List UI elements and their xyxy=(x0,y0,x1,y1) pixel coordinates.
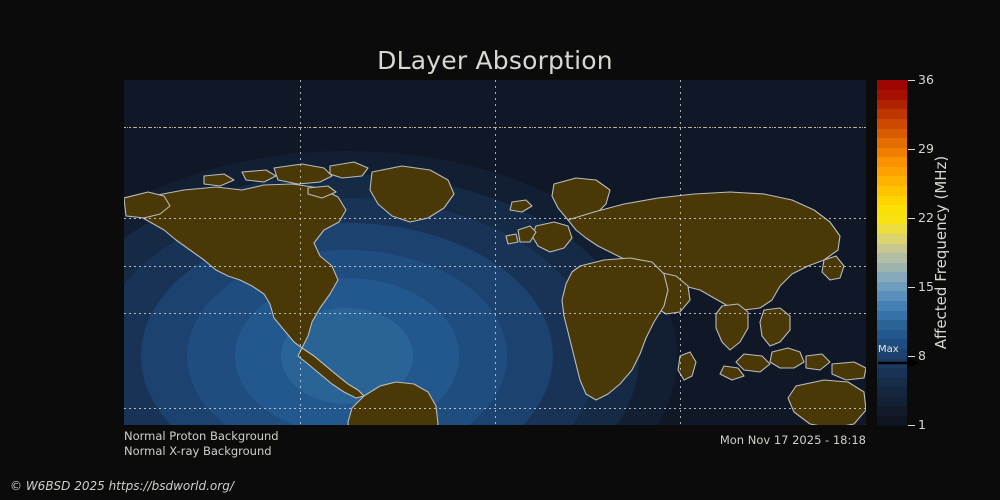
world-map-svg xyxy=(124,80,866,425)
colorbar-band xyxy=(877,281,907,291)
colorbar-band xyxy=(877,329,907,339)
colorbar-tick xyxy=(908,425,915,426)
figure-canvas: DLayer Absorption xyxy=(0,0,1000,500)
colorbar-band xyxy=(877,157,907,167)
colorbar-band xyxy=(877,415,907,425)
colorbar-tick-label: 8 xyxy=(918,350,926,363)
colorbar-band xyxy=(877,291,907,301)
status-proton-background: Normal Proton Background xyxy=(124,429,279,444)
page-title: DLayer Absorption xyxy=(0,46,990,75)
world-map-panel[interactable] xyxy=(124,80,866,425)
colorbar-band xyxy=(877,272,907,282)
colorbar-band xyxy=(877,195,907,205)
colorbar-band xyxy=(877,214,907,224)
colorbar-band xyxy=(877,348,907,358)
colorbar-band xyxy=(877,118,907,128)
colorbar-tick xyxy=(908,356,915,357)
colorbar-band xyxy=(877,300,907,310)
colorbar-band xyxy=(877,138,907,148)
colorbar-band xyxy=(877,320,907,330)
colorbar-band xyxy=(877,147,907,157)
colorbar-band xyxy=(877,80,907,90)
colorbar-gradient xyxy=(877,80,907,425)
colorbar-band xyxy=(877,185,907,195)
credit-line: © W6BSD 2025 https://bsdworld.org/ xyxy=(10,479,234,493)
colorbar-band xyxy=(877,377,907,387)
colorbar-band xyxy=(877,205,907,215)
colorbar-band xyxy=(877,224,907,234)
colorbar-tick xyxy=(908,287,915,288)
colorbar-band xyxy=(877,128,907,138)
colorbar-band xyxy=(877,406,907,416)
colorbar-band xyxy=(877,90,907,100)
colorbar-band xyxy=(877,358,907,368)
colorbar-tick xyxy=(908,218,915,219)
colorbar-tick xyxy=(908,149,915,150)
colorbar-band xyxy=(877,368,907,378)
colorbar-band xyxy=(877,387,907,397)
colorbar-band xyxy=(877,109,907,119)
colorbar-band xyxy=(877,243,907,253)
colorbar-band xyxy=(877,166,907,176)
colorbar-axis-label: Affected Frequency (MHz) xyxy=(930,80,952,425)
colorbar-band xyxy=(877,176,907,186)
colorbar-band xyxy=(877,99,907,109)
terminator-line xyxy=(124,127,866,128)
colorbar-band xyxy=(877,253,907,263)
colorbar-band xyxy=(877,262,907,272)
colorbar-band xyxy=(877,339,907,349)
colorbar-band xyxy=(877,310,907,320)
colorbar-tick-label: 1 xyxy=(918,419,926,432)
timestamp: Mon Nov 17 2025 - 18:18 xyxy=(600,433,866,447)
colorbar-tick xyxy=(908,80,915,81)
colorbar[interactable]: Max 1815222936 xyxy=(877,80,907,425)
colorbar-band xyxy=(877,233,907,243)
status-block: Normal Proton Background Normal X-ray Ba… xyxy=(124,429,279,459)
colorbar-band xyxy=(877,396,907,406)
status-xray-background: Normal X-ray Background xyxy=(124,444,279,459)
